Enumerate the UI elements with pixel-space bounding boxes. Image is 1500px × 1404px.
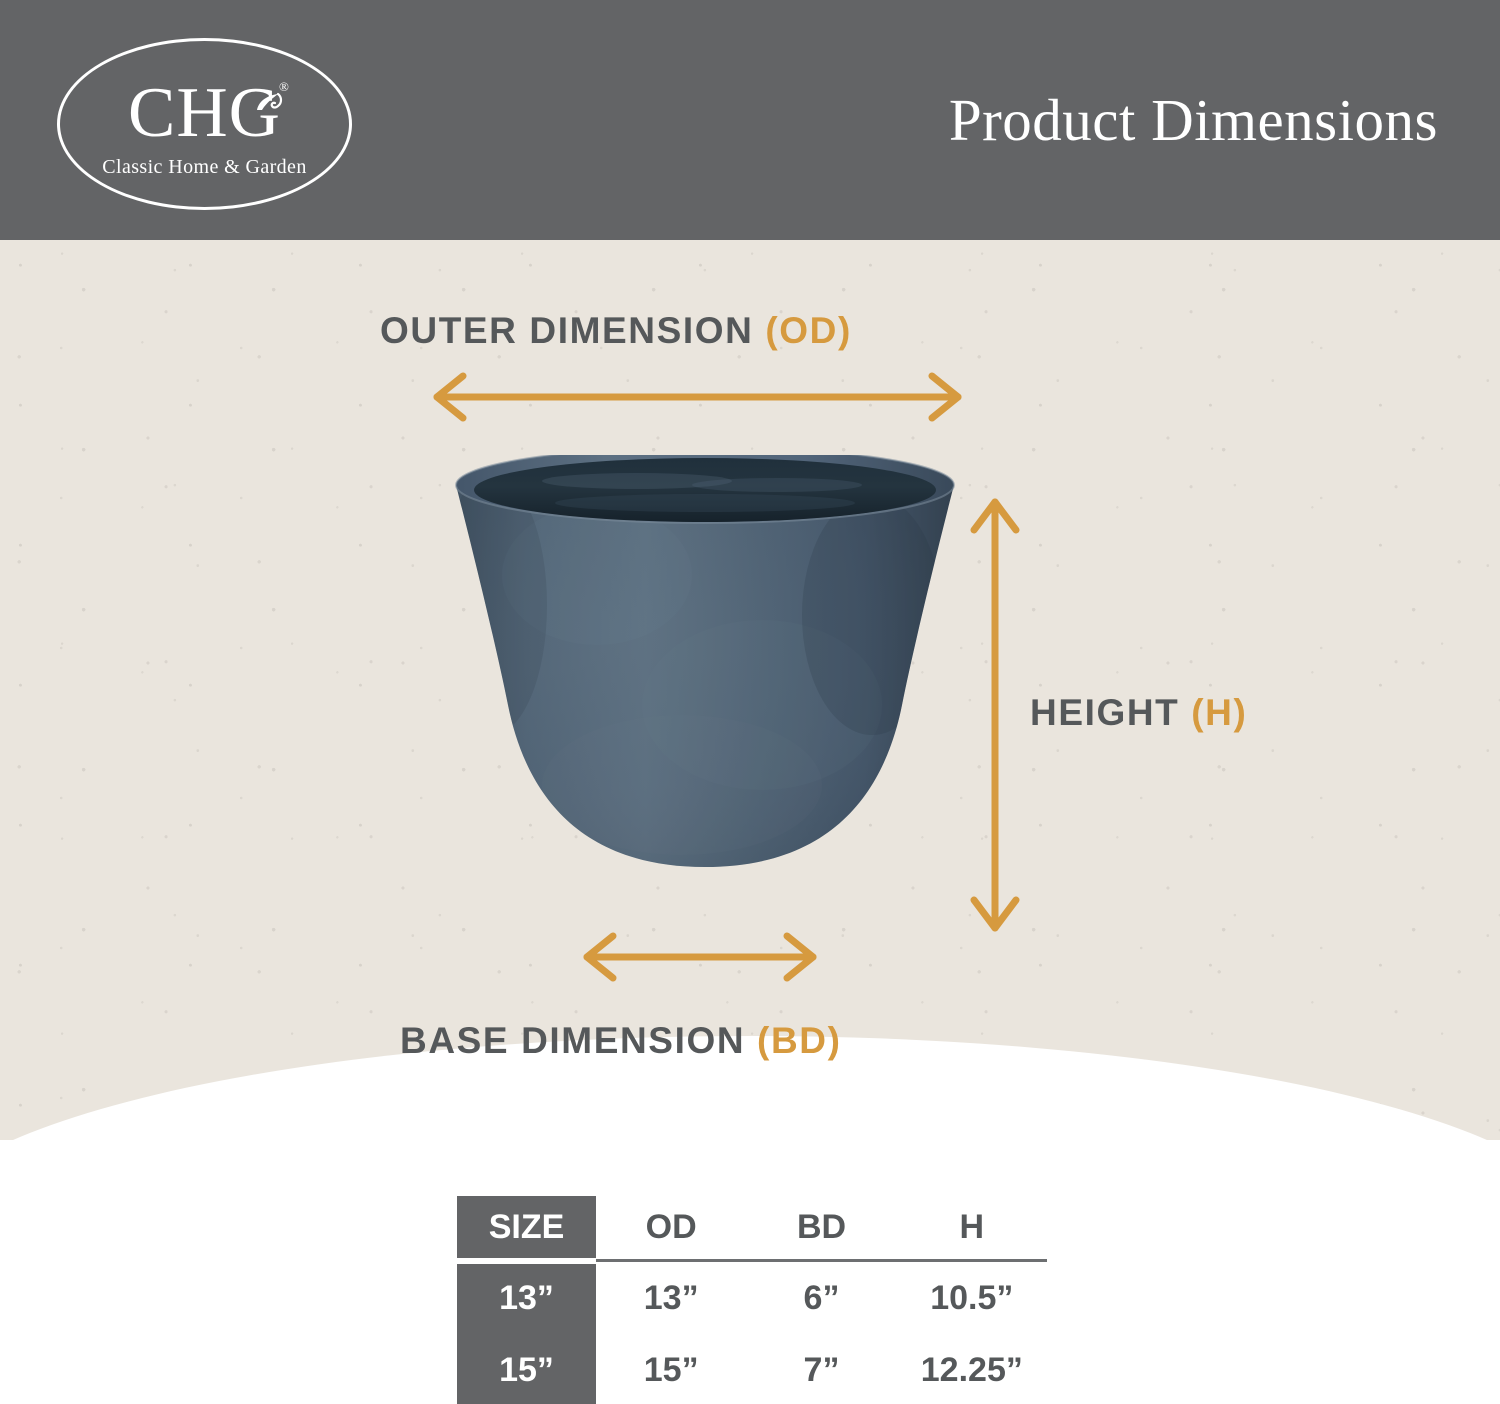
registered-trademark-icon: ® <box>279 80 289 93</box>
cell-size: 13” <box>457 1262 596 1334</box>
page-title: Product Dimensions <box>949 88 1438 152</box>
base-dimension-arrow-icon <box>575 930 825 984</box>
planter-pot-illustration <box>432 455 978 925</box>
outer-dimension-label-abbr: (OD) <box>765 310 852 351</box>
height-arrow-icon <box>965 490 1025 940</box>
logo-tagline: Classic Home & Garden <box>57 156 352 179</box>
product-dimensions-infographic: CHG ® Classic Home & Garden Product Dime… <box>0 0 1500 1404</box>
size-chart-table: SIZE OD BD H 13” 13” 6” 10.5” 15” 15” 7”… <box>457 1196 1047 1404</box>
cell-bd: 7” <box>746 1334 896 1404</box>
cell-h: 12.25” <box>897 1334 1047 1404</box>
chg-logo: CHG ® Classic Home & Garden <box>57 38 352 210</box>
outer-dimension-arrow-icon <box>425 370 970 424</box>
base-dimension-label: BASE DIMENSION (BD) <box>400 1020 842 1062</box>
base-dimension-label-text: BASE DIMENSION <box>400 1020 757 1061</box>
height-label-text: HEIGHT <box>1030 692 1191 733</box>
column-header-h: H <box>897 1196 1047 1258</box>
header-bar: CHG ® Classic Home & Garden Product Dime… <box>0 0 1500 240</box>
cell-size: 15” <box>457 1334 596 1404</box>
cell-h: 10.5” <box>897 1262 1047 1334</box>
cell-od: 13” <box>596 1262 746 1334</box>
column-header-bd: BD <box>746 1196 896 1258</box>
logo-monogram: CHG <box>57 74 352 152</box>
table-header-row: SIZE OD BD H <box>457 1196 1047 1258</box>
column-header-od: OD <box>596 1196 746 1258</box>
cell-bd: 6” <box>746 1262 896 1334</box>
cell-od: 15” <box>596 1334 746 1404</box>
outer-dimension-label: OUTER DIMENSION (OD) <box>380 310 852 352</box>
table-row: 15” 15” 7” 12.25” <box>457 1334 1047 1404</box>
outer-dimension-label-text: OUTER DIMENSION <box>380 310 765 351</box>
table-row: 13” 13” 6” 10.5” <box>457 1262 1047 1334</box>
base-dimension-label-abbr: (BD) <box>757 1020 841 1061</box>
column-header-size: SIZE <box>457 1196 596 1258</box>
height-label-abbr: (H) <box>1191 692 1247 733</box>
table-header-rule <box>596 1259 1047 1262</box>
height-label: HEIGHT (H) <box>1030 692 1247 734</box>
